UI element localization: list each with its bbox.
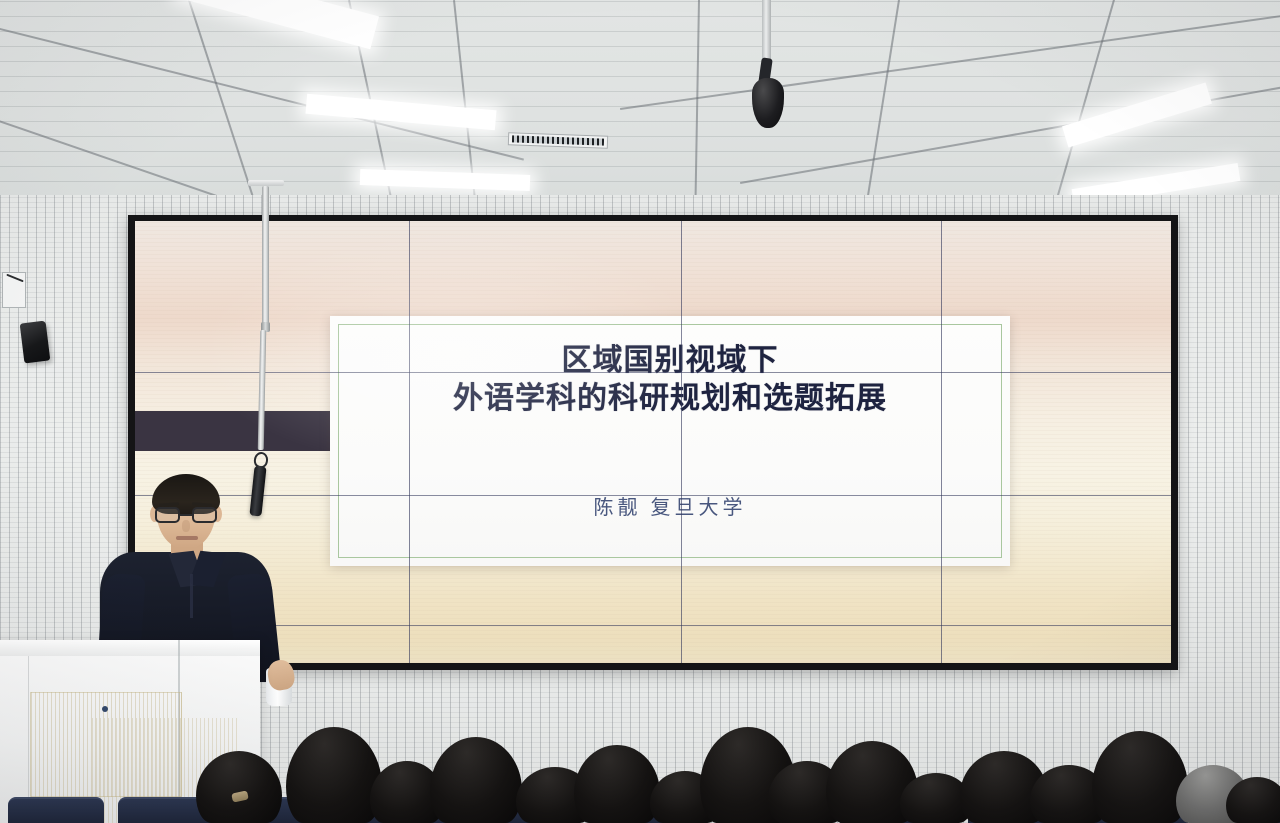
ceiling — [0, 0, 1280, 212]
audience-head — [196, 751, 282, 823]
lectern-top-surface — [0, 640, 260, 656]
presenter-nose — [182, 520, 190, 532]
slide-title: 区域国别视域下 外语学科的科研规划和选题拓展 — [330, 342, 1010, 419]
slide-card: 区域国别视域下 外语学科的科研规划和选题拓展 陈靓 复旦大学 — [330, 316, 1010, 566]
audience-chair — [8, 797, 104, 823]
microphone-pole[interactable] — [262, 186, 269, 326]
audience-head — [430, 737, 522, 823]
audience-head — [286, 727, 382, 823]
panel-seam-vertical — [409, 221, 410, 663]
glasses-lens-left — [155, 507, 180, 523]
presenter-shirt-placket — [190, 574, 193, 618]
audience-row — [0, 700, 1280, 823]
panel-seam-horizontal — [135, 372, 1171, 373]
lecture-hall-photo: 区域国别视域下 外语学科的科研规划和选题拓展 陈靓 复旦大学 — [0, 0, 1280, 823]
wall-speaker-icon — [20, 321, 51, 364]
panel-seam-vertical — [941, 221, 942, 663]
pendant-mount-rod — [762, 0, 771, 62]
panel-seam-vertical — [681, 221, 682, 663]
audience-head — [1092, 731, 1188, 823]
presenter-mouth — [176, 536, 198, 540]
audience-head — [574, 745, 660, 823]
glasses-bridge — [180, 514, 192, 516]
speaker-mount-bracket — [2, 272, 26, 308]
glasses-lens-right — [192, 507, 217, 523]
